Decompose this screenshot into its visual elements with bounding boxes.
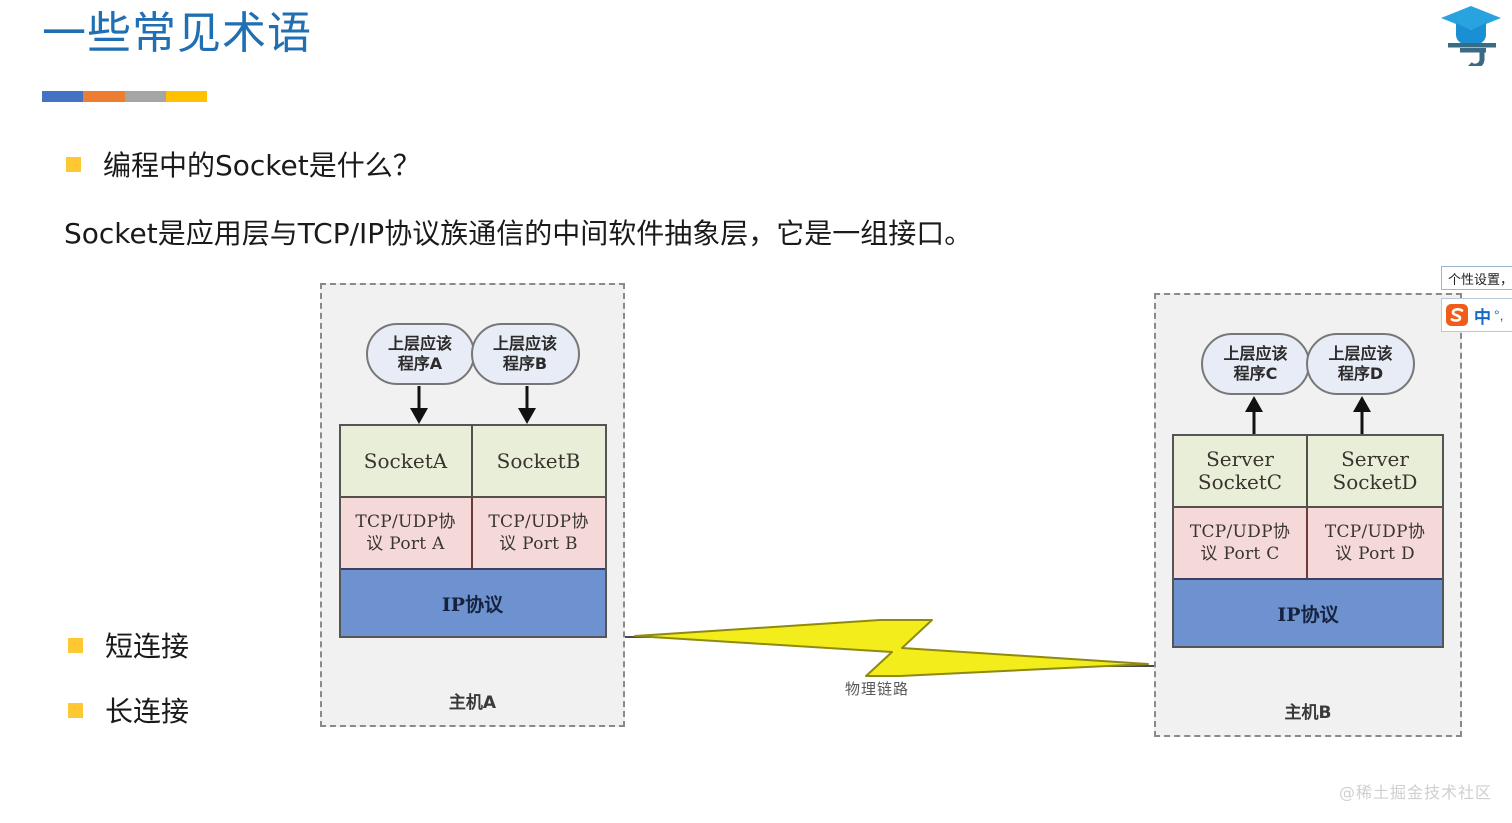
- page-title: 一些常见术语: [42, 8, 312, 61]
- host-b-label: 主机B: [1156, 698, 1460, 723]
- transport-cell-d: TCP/UDP协 议 Port D: [1308, 508, 1442, 580]
- transport-cell-c: TCP/UDP协 议 Port C: [1174, 508, 1308, 580]
- transport-cell-a: TCP/UDP协 议 Port A: [341, 498, 473, 570]
- transport-cell-line2: 议 Port A: [366, 533, 444, 555]
- ime-tooltip: 个性设置，: [1441, 266, 1512, 290]
- bullet-item-short-connection: 短连接: [68, 625, 189, 665]
- app-capsule-line1: 上层应该: [1328, 344, 1392, 364]
- bullet-label: 短连接: [105, 625, 189, 665]
- transport-cell-line1: TCP/UDP协: [1325, 521, 1425, 543]
- host-b-socket-row: Server SocketC Server SocketD: [1174, 436, 1442, 508]
- ime-toolbar[interactable]: 中 °,: [1441, 298, 1512, 332]
- app-capsule-line1: 上层应该: [493, 334, 557, 354]
- ime-punctuation-icon[interactable]: °,: [1494, 307, 1504, 323]
- host-a-transport-row: TCP/UDP协 议 Port A TCP/UDP协 议 Port B: [341, 498, 605, 570]
- host-b-arrows-up: [1199, 396, 1417, 434]
- accent-segment-yellow: [166, 91, 207, 102]
- transport-cell-line1: TCP/UDP协: [355, 511, 455, 533]
- app-capsule-line1: 上层应该: [1223, 344, 1287, 364]
- transport-cell-line2: 议 Port D: [1335, 543, 1415, 565]
- socket-cell-line1: Server: [1341, 448, 1409, 471]
- app-capsule-d: 上层应该 程序D: [1306, 333, 1415, 395]
- socket-cell-line1: SocketB: [497, 450, 581, 473]
- socket-cell-line2: SocketD: [1333, 471, 1418, 494]
- host-a-socket-row: SocketA SocketB: [341, 426, 605, 498]
- transport-cell-line1: TCP/UDP协: [488, 511, 588, 533]
- bullet-square-icon: [68, 703, 83, 718]
- host-b-ip-row: IP协议: [1174, 580, 1442, 646]
- transport-cell-line2: 议 Port B: [499, 533, 578, 555]
- socket-cell-b: SocketB: [473, 426, 605, 498]
- accent-bar: [42, 91, 207, 102]
- app-capsule-a: 上层应该 程序A: [366, 323, 475, 385]
- bullet-label: 编程中的Socket是什么？: [103, 144, 421, 184]
- app-capsule-line2: 程序A: [398, 354, 442, 374]
- app-capsule-c: 上层应该 程序C: [1201, 333, 1310, 395]
- app-capsule-line2: 程序D: [1338, 364, 1383, 384]
- bullet-item-socket-question: 编程中的Socket是什么？: [66, 144, 421, 184]
- app-capsule-line1: 上层应该: [388, 334, 452, 354]
- accent-segment-gray: [125, 91, 166, 102]
- host-a-label: 主机A: [322, 688, 623, 713]
- body-paragraph: Socket是应用层与TCP/IP协议族通信的中间软件抽象层，它是一组接口。: [64, 212, 972, 252]
- bullet-square-icon: [68, 638, 83, 653]
- accent-segment-orange: [83, 91, 124, 102]
- transport-cell-line1: TCP/UDP协: [1190, 521, 1290, 543]
- socket-cell-line2: SocketC: [1198, 471, 1282, 494]
- transport-cell-line2: 议 Port C: [1200, 543, 1279, 565]
- host-a-ip-row: IP协议: [341, 570, 605, 636]
- transport-cell-b: TCP/UDP协 议 Port B: [473, 498, 605, 570]
- host-b-protocol-stack: Server SocketC Server SocketD TCP/UDP协 议…: [1172, 434, 1444, 648]
- socket-cell-c: Server SocketC: [1174, 436, 1308, 508]
- bullet-square-icon: [66, 157, 81, 172]
- socket-cell-line1: Server: [1206, 448, 1274, 471]
- app-capsule-b: 上层应该 程序B: [471, 323, 580, 385]
- bullet-label: 长连接: [105, 690, 189, 730]
- host-b-applications: 上层应该 程序C 上层应该 程序D: [1201, 333, 1415, 395]
- app-capsule-line2: 程序C: [1234, 364, 1278, 384]
- host-a-container: 上层应该 程序A 上层应该 程序B SocketA SocketB TCP/UD…: [320, 283, 625, 727]
- accent-segment-blue: [42, 91, 83, 102]
- host-b-container: 上层应该 程序C 上层应该 程序D Server SocketC Server …: [1154, 293, 1462, 737]
- app-capsule-line2: 程序B: [503, 354, 547, 374]
- socket-cell-line1: SocketA: [364, 450, 447, 473]
- host-a-applications: 上层应该 程序A 上层应该 程序B: [366, 323, 580, 385]
- host-b-transport-row: TCP/UDP协 议 Port C TCP/UDP协 议 Port D: [1174, 508, 1442, 580]
- physical-link-label: 物理链路: [845, 678, 909, 699]
- watermark: @稀土掘金技术社区: [1339, 779, 1492, 803]
- graduation-cap-logo: [1438, 2, 1504, 66]
- socket-cell-d: Server SocketD: [1308, 436, 1442, 508]
- sogou-ime-logo-icon[interactable]: [1444, 302, 1470, 328]
- socket-cell-a: SocketA: [341, 426, 473, 498]
- bullet-item-long-connection: 长连接: [68, 690, 189, 730]
- ime-mode-indicator[interactable]: 中: [1474, 303, 1491, 328]
- host-a-protocol-stack: SocketA SocketB TCP/UDP协 议 Port A TCP/UD…: [339, 424, 607, 638]
- host-a-arrows-down: [364, 386, 582, 424]
